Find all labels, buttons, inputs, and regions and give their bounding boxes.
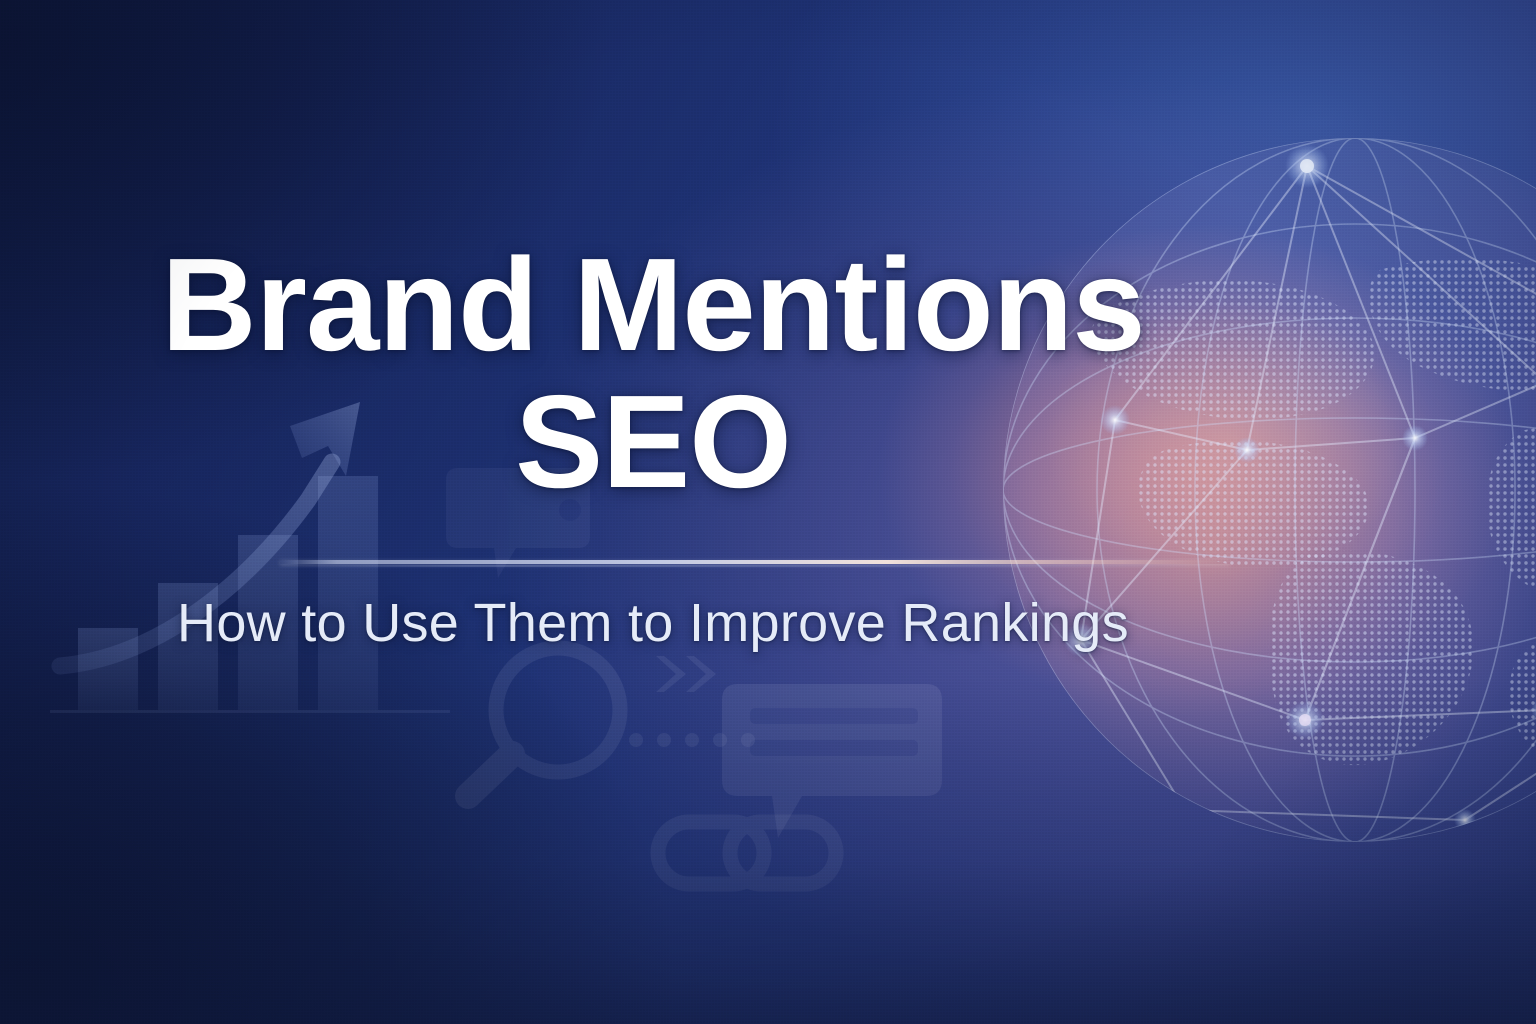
subtitle: How to Use Them to Improve Rankings xyxy=(0,592,1306,654)
page-title: Brand Mentions SEO xyxy=(0,238,1536,509)
divider-shadow xyxy=(280,565,1230,567)
title-line-1: Brand Mentions xyxy=(0,238,1306,373)
subtitle-container: How to Use Them to Improve Rankings xyxy=(0,592,1536,654)
divider xyxy=(280,560,1230,564)
slide-canvas: Brand Mentions SEO How to Use Them to Im… xyxy=(0,0,1536,1024)
title-line-2: SEO xyxy=(0,375,1306,510)
